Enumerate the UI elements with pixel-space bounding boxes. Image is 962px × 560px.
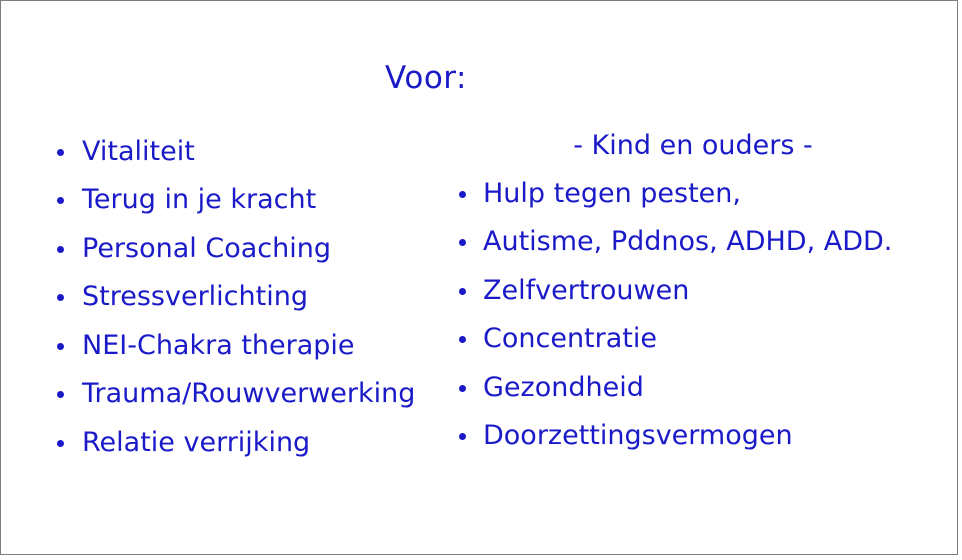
list-item-label: Vitaliteit (82, 135, 195, 169)
slide-canvas: Voor: Vitaliteit Terug in je kracht Pers… (0, 0, 958, 555)
list-item-label: Gezondheid (483, 371, 644, 405)
bullet-icon (459, 288, 466, 295)
bullet-icon (57, 294, 64, 301)
list-item-label: Relatie verrijking (82, 426, 310, 460)
list-item-label: Trauma/Rouwverwerking (82, 377, 415, 411)
list-item: Autisme, Pddnos, ADHD, ADD. (459, 225, 892, 259)
bullet-icon (57, 343, 64, 350)
list-item-label: NEI-Chakra therapie (82, 329, 355, 363)
list-item: Gezondheid (459, 371, 644, 405)
list-item: Hulp tegen pesten, (459, 177, 741, 211)
list-item: Stressverlichting (57, 280, 308, 314)
list-item-label: Personal Coaching (82, 232, 331, 266)
list-item-label: Concentratie (483, 322, 657, 356)
list-item: Concentratie (459, 322, 657, 356)
bullet-icon (459, 336, 466, 343)
bullet-icon (459, 239, 466, 246)
bullet-icon (57, 391, 64, 398)
list-item: Trauma/Rouwverwerking (57, 377, 415, 411)
list-item-label: Zelfvertrouwen (483, 274, 689, 308)
bullet-icon (57, 197, 64, 204)
list-item-label: Autisme, Pddnos, ADHD, ADD. (483, 225, 892, 259)
list-item-label: Terug in je kracht (82, 183, 316, 217)
bullet-icon (57, 149, 64, 156)
list-item: Terug in je kracht (57, 183, 316, 217)
list-item-label: Doorzettingsvermogen (483, 419, 793, 453)
bullet-icon (459, 191, 466, 198)
list-item: Vitaliteit (57, 135, 195, 169)
bullet-icon (459, 433, 466, 440)
list-item: Relatie verrijking (57, 426, 310, 460)
list-item: Zelfvertrouwen (459, 274, 689, 308)
list-item: Personal Coaching (57, 232, 331, 266)
list-item: NEI-Chakra therapie (57, 329, 355, 363)
bullet-icon (57, 440, 64, 447)
bullet-icon (459, 385, 466, 392)
list-item-label: Stressverlichting (82, 280, 308, 314)
page-title: Voor: (1, 59, 851, 97)
list-item-label: Hulp tegen pesten, (483, 177, 741, 211)
bullet-icon (57, 246, 64, 253)
section-heading: - Kind en ouders - (487, 129, 899, 163)
list-item: Doorzettingsvermogen (459, 419, 793, 453)
